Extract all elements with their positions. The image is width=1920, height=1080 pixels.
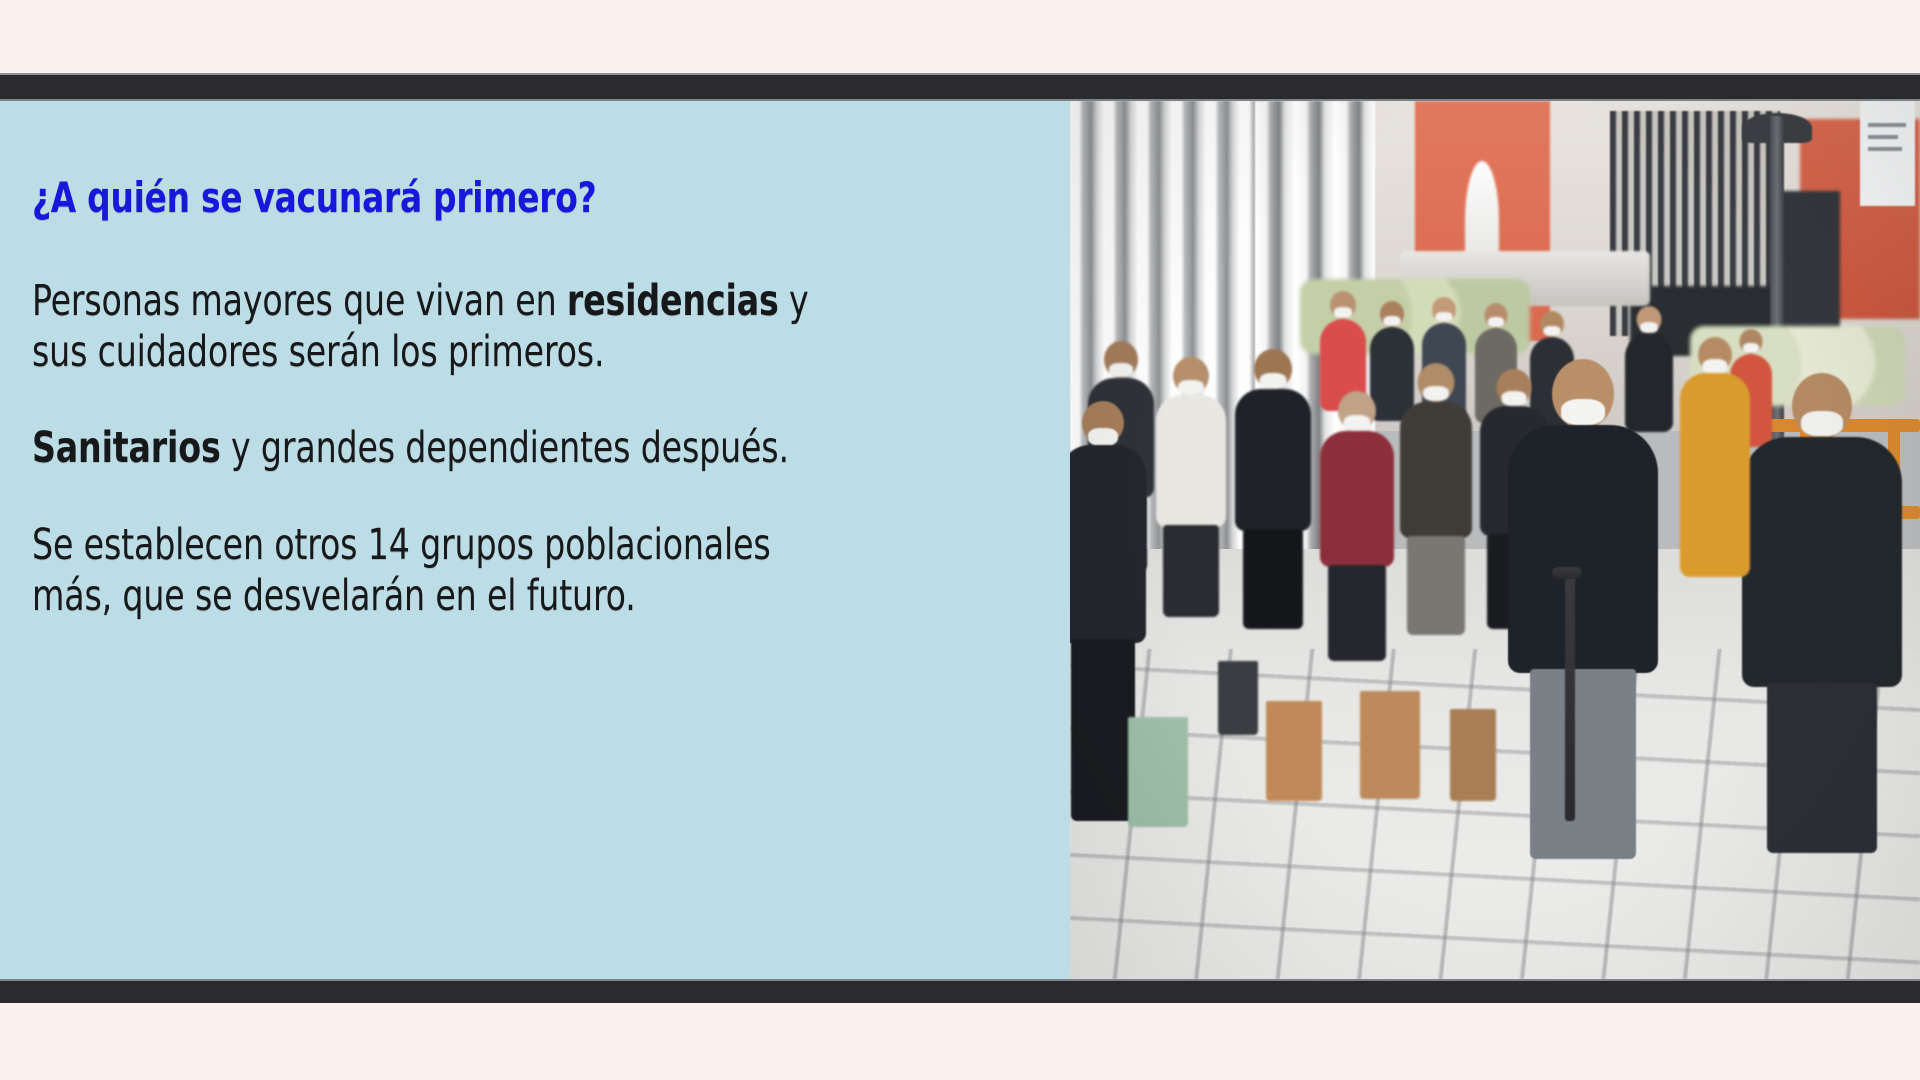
umbrella <box>1565 571 1575 821</box>
wall-sign <box>1860 101 1915 206</box>
crowd-person <box>1235 349 1311 629</box>
crowd-person <box>1400 363 1472 635</box>
crowd-person-yellow-coat <box>1680 337 1750 577</box>
shopping-bag-brown-1 <box>1266 701 1322 801</box>
crowd-person <box>1156 357 1226 617</box>
crowd-person <box>1320 391 1394 661</box>
foreground-person-right <box>1742 373 1902 853</box>
shopping-bag-brown-3 <box>1450 709 1496 801</box>
paragraph-list: Personas mayores que vivan en residencia… <box>32 276 1070 622</box>
body-text: sus cuidadores serán los primeros. <box>32 327 604 377</box>
dark-bar-top <box>0 73 1920 101</box>
shopping-bag-brown-2 <box>1360 691 1420 799</box>
emphasis-text: residencias <box>567 276 779 326</box>
body-text: Personas mayores que vivan en <box>32 276 567 326</box>
body-text: más, que se desvelarán en el futuro. <box>32 571 636 621</box>
body-text: Se establecen otros 14 grupos poblaciona… <box>32 520 771 570</box>
paragraph: Personas mayores que vivan en residencia… <box>32 276 925 377</box>
page-title: ¿A quién se vacunará primero? <box>32 173 935 222</box>
foreground-person-center <box>1508 359 1658 859</box>
news-photo <box>1070 101 1920 979</box>
paragraph-line: sus cuidadores serán los primeros. <box>32 327 925 378</box>
body-text: y <box>779 276 809 326</box>
paragraph-line: Se establecen otros 14 grupos poblaciona… <box>32 520 925 571</box>
letterbox-band-bottom <box>0 1003 1920 1080</box>
text-panel: ¿A quién se vacunará primero? Personas m… <box>0 101 1070 979</box>
paragraph-line: más, que se desvelarán en el futuro. <box>32 571 925 622</box>
umbrella-handle <box>1552 567 1582 579</box>
body-text: y grandes dependientes después. <box>221 423 789 473</box>
paragraph: Se establecen otros 14 grupos poblaciona… <box>32 520 925 621</box>
dark-bar-bottom <box>0 979 1920 1004</box>
shopping-bag-dark <box>1218 661 1258 735</box>
slide-stage: ¿A quién se vacunará primero? Personas m… <box>0 101 1920 979</box>
shopping-bag-green <box>1128 717 1188 827</box>
paragraph: Sanitarios y grandes dependientes despué… <box>32 423 925 474</box>
letterbox-band-top <box>0 0 1920 73</box>
paragraph-line: Sanitarios y grandes dependientes despué… <box>32 423 925 474</box>
emphasis-text: Sanitarios <box>32 423 221 473</box>
video-frame: ¿A quién se vacunará primero? Personas m… <box>0 0 1920 1080</box>
paragraph-line: Personas mayores que vivan en residencia… <box>32 276 925 327</box>
